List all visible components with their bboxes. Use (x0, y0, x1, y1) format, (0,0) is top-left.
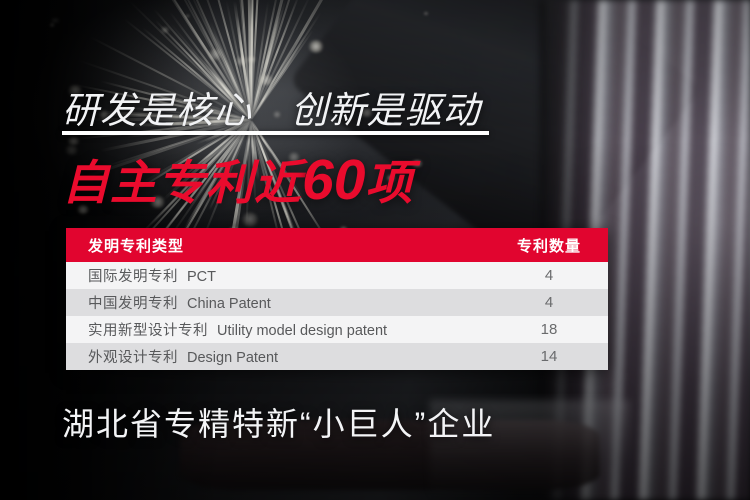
patent-type-en: Design Patent (187, 350, 278, 366)
table-row: 国际发明专利PCT4 (66, 262, 608, 289)
patent-table-body: 国际发明专利PCT4中国发明专利China Patent4实用新型设计专利Uti… (66, 262, 608, 370)
cell-patent-count: 4 (490, 289, 608, 316)
table-header-row: 发明专利类型 专利数量 (66, 228, 608, 262)
patent-type-en: China Patent (187, 296, 271, 312)
poster-content: 研发是核心 创新是驱动 自主专利近60项 发明专利类型 专利数量 国际发明专利P… (0, 0, 750, 500)
patent-type-cn: 国际发明专利 (88, 269, 178, 285)
headline-phrase-2: 创新是驱动 (291, 90, 481, 131)
patent-type-en: Utility model design patent (217, 323, 387, 339)
cell-patent-count: 4 (490, 262, 608, 289)
cell-patent-count: 18 (490, 316, 608, 343)
table-row: 实用新型设计专利Utility model design patent18 (66, 316, 608, 343)
subtitle-prefix: 自主专利近 (62, 156, 302, 209)
patent-type-cn: 外观设计专利 (88, 350, 178, 366)
cell-patent-type: 实用新型设计专利Utility model design patent (66, 316, 490, 343)
patent-type-en: PCT (187, 269, 216, 285)
cell-patent-count: 14 (490, 343, 608, 370)
footer-caption: 湖北省专精特新“小巨人”企业 (62, 399, 495, 445)
patent-type-cn: 实用新型设计专利 (88, 323, 208, 339)
patent-table: 发明专利类型 专利数量 国际发明专利PCT4中国发明专利China Patent… (66, 228, 608, 370)
poster-root: 研发是核心 创新是驱动 自主专利近60项 发明专利类型 专利数量 国际发明专利P… (0, 0, 750, 500)
cell-patent-type: 外观设计专利Design Patent (66, 343, 490, 370)
page-subtitle: 自主专利近60项 (62, 144, 413, 213)
cell-patent-type: 国际发明专利PCT (66, 262, 490, 289)
table-row: 中国发明专利China Patent4 (66, 289, 608, 316)
title-divider (62, 131, 489, 135)
headline-phrase-1: 研发是核心 (62, 90, 252, 131)
subtitle-patent-count: 60 (302, 148, 365, 212)
subtitle-suffix: 项 (365, 156, 413, 209)
page-title: 研发是核心 创新是驱动 (62, 80, 481, 134)
column-header-type: 发明专利类型 (66, 228, 490, 262)
column-header-count: 专利数量 (490, 228, 608, 262)
cell-patent-type: 中国发明专利China Patent (66, 289, 490, 316)
patent-type-cn: 中国发明专利 (88, 296, 178, 312)
table-row: 外观设计专利Design Patent14 (66, 343, 608, 370)
patent-table-head: 发明专利类型 专利数量 (66, 228, 608, 262)
